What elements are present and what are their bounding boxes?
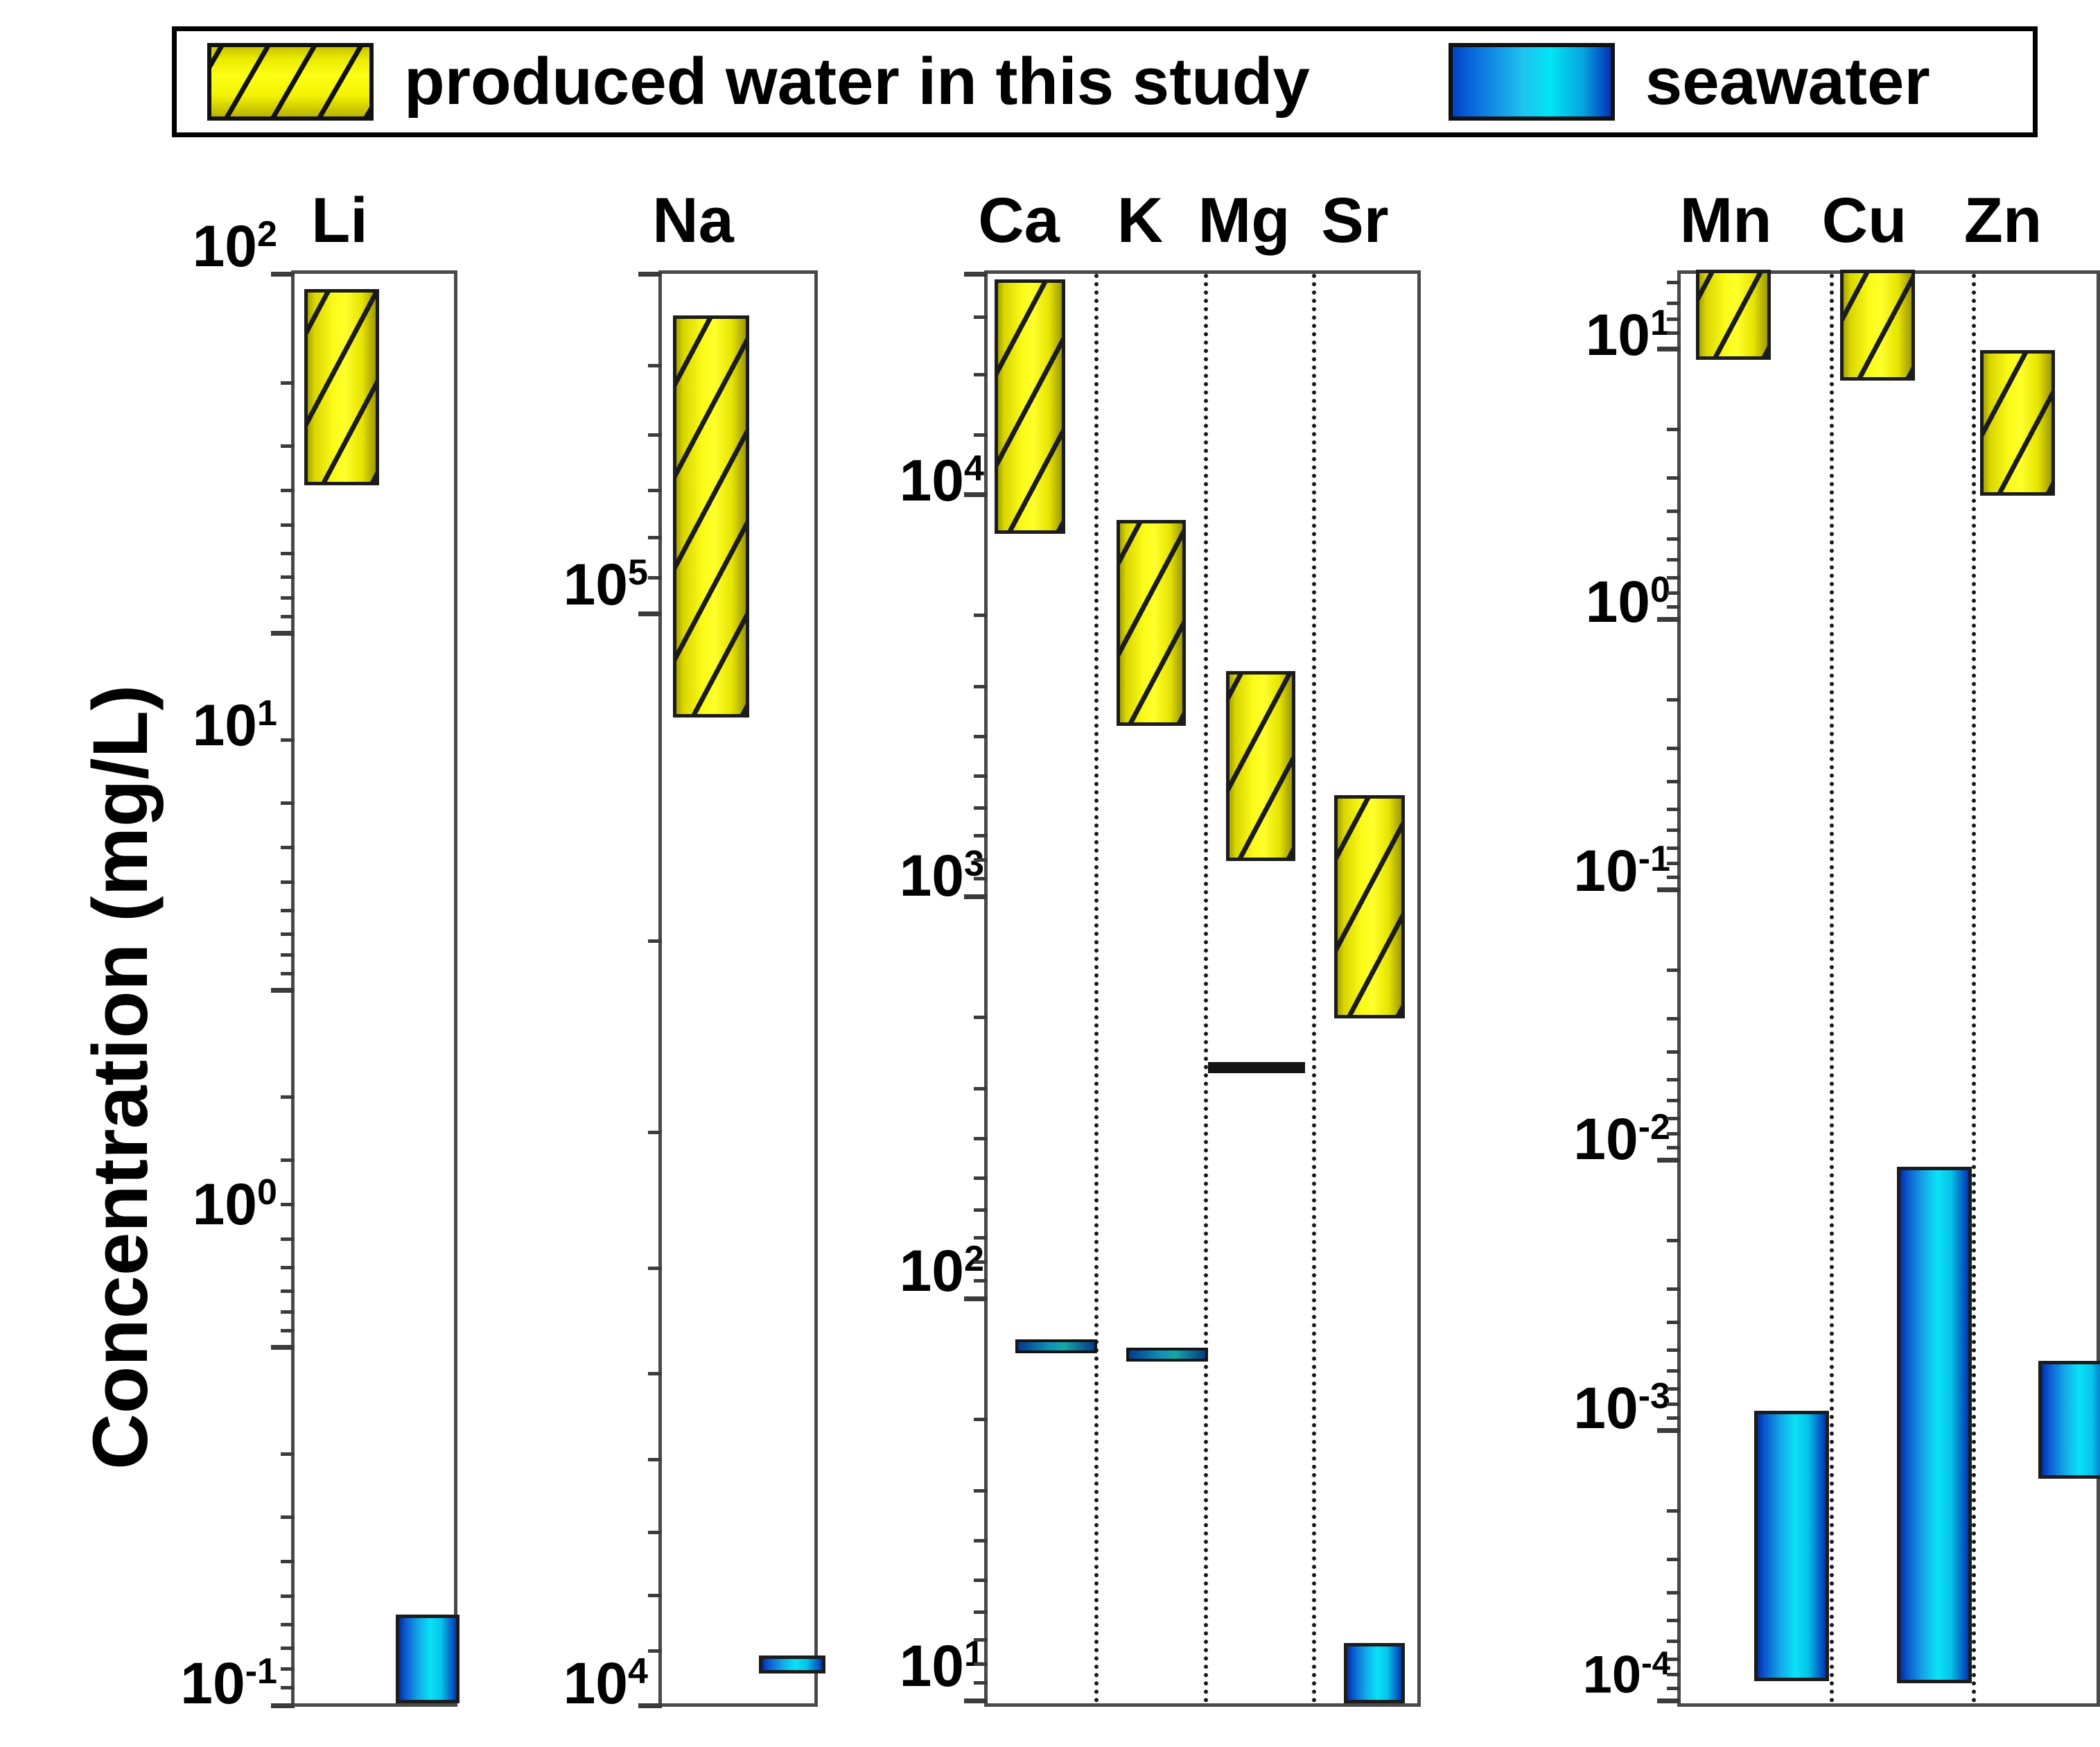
group-separator-cu-zn (1972, 274, 1976, 1703)
y-tick-label-p4-0.0001: 10-4 (1462, 1646, 1670, 1701)
group-header-sr: Sr (1296, 189, 1414, 252)
plot-area-cakmgsr (984, 270, 1421, 1707)
y-tick-mantissa: 10 (563, 1651, 628, 1716)
y-tick-exponent: -4 (1641, 1644, 1670, 1681)
bar-na-produced-water (673, 315, 749, 718)
y-tick-label-p1-1: 100 (104, 1174, 277, 1233)
group-header-zn: Zn (1934, 189, 2072, 252)
bar-zn-produced-water (1980, 350, 2055, 496)
y-tick-exponent: 0 (257, 1172, 277, 1213)
group-header-mn: Mn (1656, 189, 1795, 252)
plot-area-li (291, 270, 457, 1707)
y-tick-mantissa: 10 (563, 552, 628, 617)
y-tick-mantissa: 10 (900, 448, 964, 513)
y-tick-mantissa: 10 (1586, 302, 1650, 367)
bar-k-produced-water (1117, 520, 1186, 726)
y-tick-exponent: -2 (1638, 1107, 1670, 1147)
y-tick-exponent: 4 (964, 449, 984, 489)
y-tick-mantissa: 10 (900, 1238, 964, 1303)
y-tick-exponent: -1 (245, 1651, 277, 1692)
plot-area-mncuzn (1677, 270, 2100, 1707)
y-tick-label-p4-0.001: 10-3 (1462, 1378, 1670, 1437)
group-header-li: Li (291, 189, 388, 252)
marker-mg-seawater (1208, 1062, 1305, 1073)
marker-ca-seawater (1015, 1339, 1097, 1353)
group-header-k: K (1088, 189, 1192, 252)
y-tick-label-p3-10000: 104 (776, 451, 984, 510)
bar-sr-seawater (1344, 1643, 1405, 1703)
bar-ca-produced-water (995, 279, 1065, 534)
y-tick-mantissa: 10 (193, 214, 257, 279)
y-tick-mantissa: 10 (900, 1633, 964, 1698)
y-tick-exponent: 1 (257, 693, 277, 733)
bar-zn-seawater (2038, 1361, 2100, 1479)
bar-sr-produced-water (1334, 795, 1405, 1018)
y-tick-label-p4-0.1: 10-1 (1462, 841, 1670, 900)
group-separator-ca-k (1094, 274, 1099, 1703)
y-tick-mantissa: 10 (193, 1172, 257, 1237)
y-tick-label-p3-10: 101 (776, 1636, 984, 1695)
bar-cu-produced-water (1840, 270, 1915, 381)
y-tick-exponent: 2 (257, 214, 277, 254)
bar-mn-seawater (1754, 1411, 1829, 1681)
y-tick-label-p1-0.1: 10-1 (104, 1653, 277, 1712)
bar-mn-produced-water (1696, 270, 1771, 360)
bar-li-seawater (396, 1615, 460, 1703)
y-tick-mantissa: 10 (180, 1651, 245, 1716)
y-tick-mantissa: 10 (1573, 1375, 1638, 1441)
y-tick-mantissa: 10 (900, 843, 964, 908)
panel-na: Na 105 104 (485, 0, 818, 1747)
group-header-na: Na (624, 189, 762, 252)
y-tick-exponent: 5 (628, 553, 648, 593)
y-tick-exponent: -1 (1638, 839, 1670, 879)
y-tick-mantissa: 10 (193, 693, 257, 758)
y-tick-exponent: 2 (964, 1239, 984, 1279)
group-separator-mn-cu (1830, 274, 1834, 1703)
y-tick-exponent: -3 (1638, 1376, 1670, 1416)
marker-k-seawater (1126, 1348, 1208, 1362)
group-separator-k-mg (1204, 274, 1208, 1703)
y-tick-label-p3-1000: 103 (776, 846, 984, 905)
y-tick-mantissa: 10 (1583, 1645, 1642, 1704)
y-tick-mantissa: 10 (1586, 569, 1650, 634)
y-tick-label-p1-100: 102 (104, 216, 277, 275)
y-tick-label-p2-100000: 105 (454, 555, 648, 614)
y-tick-label-p3-100: 102 (776, 1241, 984, 1300)
bar-mg-produced-water (1226, 671, 1295, 861)
y-tick-label-p2-10000: 104 (454, 1653, 648, 1712)
y-tick-label-p1-10: 101 (104, 695, 277, 754)
panel-cakmgsr: Ca K Mg Sr 104 103 102 101 (818, 0, 1469, 1747)
bar-cu-seawater (1897, 1167, 1972, 1683)
y-tick-mantissa: 10 (1573, 1106, 1638, 1172)
panel-li: Li 102 101 100 10-1 (0, 0, 485, 1747)
group-header-mg: Mg (1178, 189, 1310, 252)
y-tick-exponent: 4 (628, 1651, 648, 1692)
y-tick-label-p4-10: 101 (1462, 305, 1670, 364)
panel-mncuzn: Mn Cu Zn 101 100 10-1 10-2 10-3 10-4 (1469, 0, 2100, 1747)
y-tick-label-p4-1: 100 (1462, 572, 1670, 631)
bar-li-produced-water (304, 289, 379, 485)
group-separator-mg-sr (1312, 274, 1316, 1703)
group-header-cu: Cu (1795, 189, 1934, 252)
y-tick-mantissa: 10 (1573, 838, 1638, 903)
y-tick-exponent: 1 (1650, 303, 1670, 343)
group-header-ca: Ca (956, 189, 1081, 252)
y-tick-label-p4-0.01: 10-2 (1462, 1109, 1670, 1168)
